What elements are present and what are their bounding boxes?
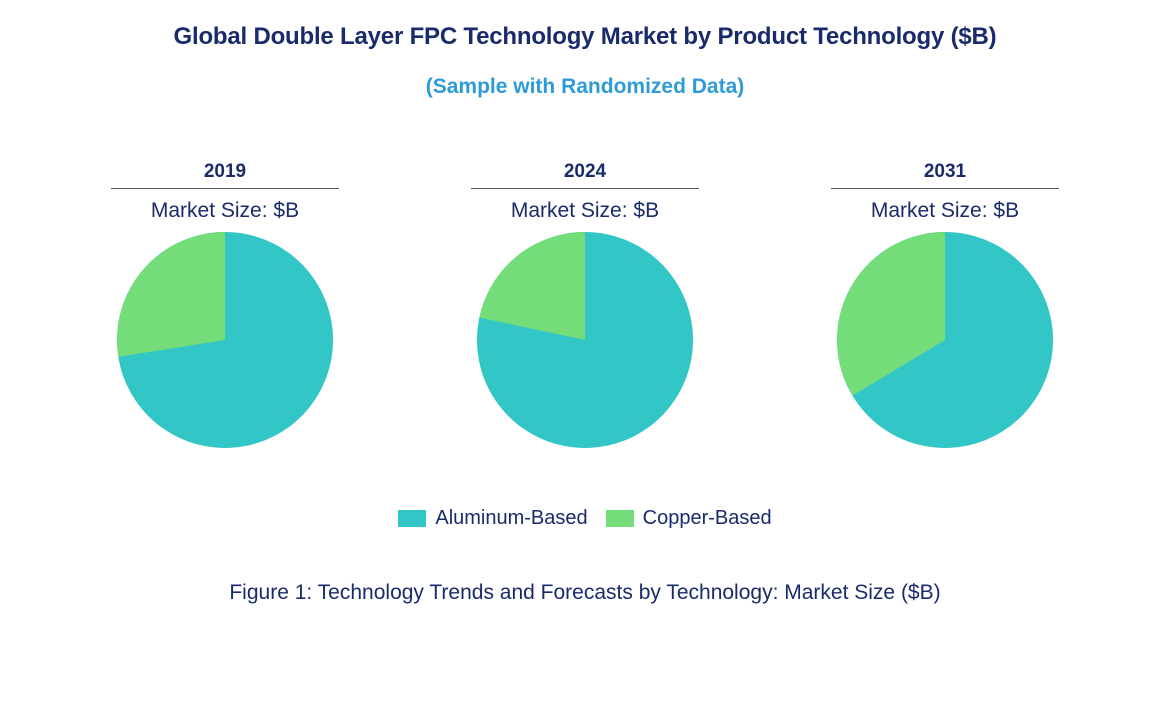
legend-item-aluminum[interactable]: Aluminum-Based	[398, 506, 587, 530]
pie-chart-2019	[117, 232, 333, 448]
panel-market-size-label: Market Size: $B	[511, 198, 659, 224]
panel-year-label: 2024	[564, 160, 606, 184]
panel-divider	[471, 188, 699, 189]
pie-chart-2024	[477, 232, 693, 448]
pie-svg-2024	[477, 232, 693, 448]
legend-item-label: Aluminum-Based	[435, 506, 587, 530]
panel-divider	[831, 188, 1059, 189]
legend-item-label: Copper-Based	[643, 506, 772, 530]
title-block: Global Double Layer FPC Technology Marke…	[0, 22, 1170, 100]
page-title: Global Double Layer FPC Technology Marke…	[0, 22, 1170, 52]
pie-svg-2031	[837, 232, 1053, 448]
panel-market-size-label: Market Size: $B	[871, 198, 1019, 224]
legend-swatch-icon	[606, 510, 634, 527]
legend-swatch-icon	[398, 510, 426, 527]
figure-caption: Figure 1: Technology Trends and Forecast…	[0, 580, 1170, 606]
page-subtitle: (Sample with Randomized Data)	[0, 74, 1170, 100]
chart-legend: Aluminum-Based Copper-Based	[0, 506, 1170, 530]
pie-panel-2019: 2019 Market Size: $B	[55, 160, 395, 448]
pie-panels: 2019 Market Size: $B 2024 Market Size: $…	[55, 160, 1115, 448]
pie-svg-2019	[117, 232, 333, 448]
chart-figure: Global Double Layer FPC Technology Marke…	[0, 0, 1170, 711]
panel-year-label: 2031	[924, 160, 966, 184]
pie-panel-2024: 2024 Market Size: $B	[415, 160, 755, 448]
pie-chart-2031	[837, 232, 1053, 448]
pie-panel-2031: 2031 Market Size: $B	[775, 160, 1115, 448]
panel-year-label: 2019	[204, 160, 246, 184]
legend-item-copper[interactable]: Copper-Based	[606, 506, 772, 530]
panel-market-size-label: Market Size: $B	[151, 198, 299, 224]
panel-divider	[111, 188, 339, 189]
pie-slice-copper-2019	[117, 232, 225, 357]
